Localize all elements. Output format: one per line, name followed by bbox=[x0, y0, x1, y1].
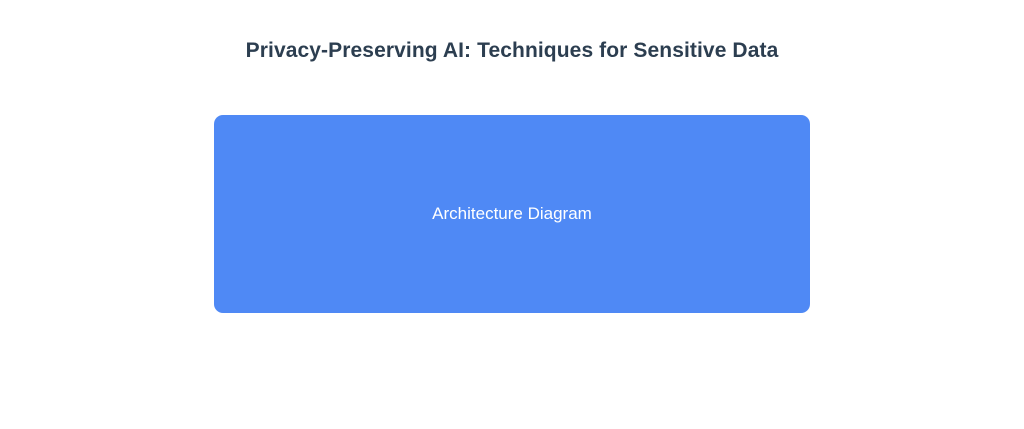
architecture-diagram-placeholder-label: Architecture Diagram bbox=[432, 204, 592, 224]
slide-canvas: Privacy-Preserving AI: Techniques for Se… bbox=[0, 0, 1024, 429]
page-title: Privacy-Preserving AI: Techniques for Se… bbox=[0, 38, 1024, 64]
architecture-diagram-placeholder[interactable]: Architecture Diagram bbox=[214, 115, 810, 313]
